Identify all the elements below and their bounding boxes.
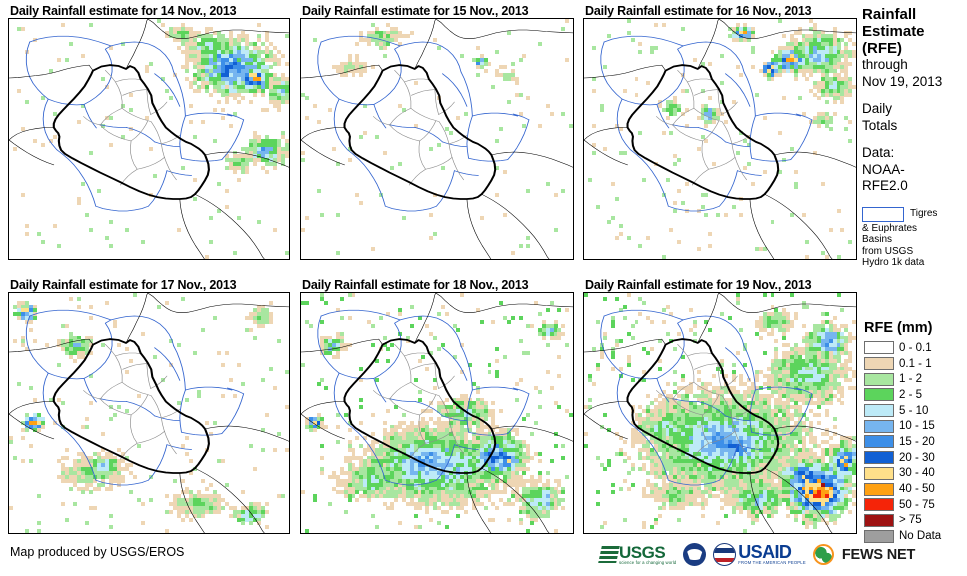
- legend-data-line2: NOAA-: [862, 162, 967, 179]
- fewsnet-logo-text: FEWS NET: [842, 547, 915, 563]
- rfe-swatch: [864, 451, 894, 464]
- panel-title: Daily Rainfall estimate for 19 Nov., 201…: [583, 278, 857, 292]
- rfe-swatch: [864, 357, 894, 370]
- rfe-legend-row: 0.1 - 1: [864, 356, 967, 372]
- map-canvas-16-nov[interactable]: [583, 18, 857, 260]
- rfe-swatch-label: > 75: [899, 514, 922, 526]
- basin-label-rest: & Euphrates Basins from USGS Hydro 1k da…: [862, 223, 924, 269]
- panel-19-nov: Daily Rainfall estimate for 19 Nov., 201…: [583, 278, 857, 534]
- basin-label-line2: & Euphrates: [862, 223, 924, 235]
- rfe-legend-row: 5 - 10: [864, 403, 967, 419]
- rfe-swatch-label: 40 - 50: [899, 483, 935, 495]
- usgs-logo-text: USGS: [619, 545, 676, 560]
- rfe-swatch: [864, 388, 894, 401]
- rfe-legend-row: 2 - 5: [864, 387, 967, 403]
- basin-legend-key: Tigres & Euphrates Basins from USGS Hydr…: [862, 207, 967, 263]
- panel-title: Daily Rainfall estimate for 14 Nov., 201…: [8, 4, 290, 18]
- rfe-swatch-label: 0.1 - 1: [899, 358, 932, 370]
- rfe-legend-row: > 75: [864, 513, 967, 529]
- rfe-swatch: [864, 373, 894, 386]
- rfe-legend-row: 10 - 15: [864, 418, 967, 434]
- legend-header: Rainfall Estimate (RFE) through Nov 19, …: [862, 6, 967, 263]
- map-canvas-19-nov[interactable]: [583, 292, 857, 534]
- rfe-swatch: [864, 467, 894, 480]
- noaa-seal-icon: [683, 543, 706, 566]
- legend-through: through: [862, 57, 967, 74]
- panel-16-nov: Daily Rainfall estimate for 16 Nov., 201…: [583, 4, 857, 260]
- panel-17-nov: Daily Rainfall estimate for 17 Nov., 201…: [8, 278, 290, 534]
- legend-data-line1: Data:: [862, 145, 967, 162]
- legend-date: Nov 19, 2013: [862, 74, 967, 91]
- map-canvas-17-nov[interactable]: [8, 292, 290, 534]
- rfe-legend-row: No Data: [864, 528, 967, 544]
- rfe-legend-row: 20 - 30: [864, 450, 967, 466]
- basin-label-line1: Tigres: [910, 208, 937, 220]
- map-vector-overlay: [9, 293, 289, 533]
- rfe-swatch: [864, 514, 894, 527]
- basin-label-line3: Basins: [862, 234, 924, 246]
- usgs-logo-tagline: science for a changing world: [619, 560, 676, 565]
- usgs-mark-icon: [598, 546, 620, 563]
- legend-data-line3: RFE2.0: [862, 178, 967, 195]
- rfe-swatch: [864, 483, 894, 496]
- rfe-swatch-label: 5 - 10: [899, 405, 928, 417]
- usgs-logo[interactable]: USGS science for a changing world: [600, 545, 676, 565]
- legend-data-source: Data: NOAA- RFE2.0: [862, 145, 967, 195]
- legend-title-line3: (RFE): [862, 40, 967, 57]
- fewsnet-logo[interactable]: FEWS NET: [813, 544, 915, 565]
- noaa-logo[interactable]: [683, 543, 706, 566]
- panel-title: Daily Rainfall estimate for 17 Nov., 201…: [8, 278, 290, 292]
- rfe-swatch-label: 0 - 0.1: [899, 342, 932, 354]
- rfe-swatch-label: No Data: [899, 530, 941, 542]
- rfe-swatch: [864, 498, 894, 511]
- rfe-legend-row: 15 - 20: [864, 434, 967, 450]
- rfe-swatch: [864, 420, 894, 433]
- rfe-swatch: [864, 404, 894, 417]
- legend-totals-line2: Totals: [862, 118, 967, 135]
- rfe-swatch-label: 10 - 15: [899, 420, 935, 432]
- usaid-logo-text: USAID: [738, 544, 806, 560]
- panel-14-nov: Daily Rainfall estimate for 14 Nov., 201…: [8, 4, 290, 260]
- map-canvas-14-nov[interactable]: [8, 18, 290, 260]
- basin-label-line4: from USGS: [862, 246, 924, 258]
- map-canvas-18-nov[interactable]: [300, 292, 574, 534]
- map-vector-overlay: [301, 19, 573, 259]
- panel-15-nov: Daily Rainfall estimate for 15 Nov., 201…: [300, 4, 574, 260]
- rfe-legend-row: 1 - 2: [864, 371, 967, 387]
- rfe-swatch-label: 1 - 2: [899, 373, 922, 385]
- agency-logos: USGS science for a changing world USAID …: [600, 543, 915, 566]
- rfe-color-legend: RFE (mm) 0 - 0.10.1 - 11 - 22 - 55 - 101…: [864, 320, 967, 544]
- rfe-swatch-label: 50 - 75: [899, 499, 935, 511]
- rfe-swatch: [864, 341, 894, 354]
- basin-outline-swatch: [862, 207, 904, 222]
- map-vector-overlay: [301, 293, 573, 533]
- legend-title-line2: Estimate: [862, 23, 967, 40]
- map-canvas-15-nov[interactable]: [300, 18, 574, 260]
- rfe-legend-row: 40 - 50: [864, 481, 967, 497]
- panel-title: Daily Rainfall estimate for 18 Nov., 201…: [300, 278, 574, 292]
- panel-18-nov: Daily Rainfall estimate for 18 Nov., 201…: [300, 278, 574, 534]
- rfe-swatch-label: 15 - 20: [899, 436, 935, 448]
- legend-totals-line1: Daily: [862, 101, 967, 118]
- map-vector-overlay: [9, 19, 289, 259]
- basin-label-line5: Hydro 1k data: [862, 257, 924, 269]
- panel-title: Daily Rainfall estimate for 15 Nov., 201…: [300, 4, 574, 18]
- legend-title-line1: Rainfall: [862, 6, 967, 23]
- map-credit: Map produced by USGS/EROS: [10, 545, 184, 559]
- rfe-legend-row: 50 - 75: [864, 497, 967, 513]
- rfe-swatch: [864, 435, 894, 448]
- map-vector-overlay: [584, 19, 856, 259]
- rfe-legend-rows: 0 - 0.10.1 - 11 - 22 - 55 - 1010 - 1515 …: [864, 340, 967, 544]
- rfe-legend-row: 0 - 0.1: [864, 340, 967, 356]
- rfe-legend-title: RFE (mm): [864, 320, 967, 336]
- rfe-swatch: [864, 530, 894, 543]
- usaid-logo[interactable]: USAID FROM THE AMERICAN PEOPLE: [713, 543, 806, 566]
- rfe-swatch-label: 30 - 40: [899, 467, 935, 479]
- rfe-swatch-label: 2 - 5: [899, 389, 922, 401]
- usaid-seal-icon: [713, 543, 736, 566]
- fewsnet-globe-icon: [813, 544, 834, 565]
- usaid-logo-tagline: FROM THE AMERICAN PEOPLE: [738, 560, 806, 565]
- panel-title: Daily Rainfall estimate for 16 Nov., 201…: [583, 4, 857, 18]
- map-vector-overlay: [584, 293, 856, 533]
- legend-totals: Daily Totals: [862, 101, 967, 134]
- rfe-legend-row: 30 - 40: [864, 466, 967, 482]
- rfe-swatch-label: 20 - 30: [899, 452, 935, 464]
